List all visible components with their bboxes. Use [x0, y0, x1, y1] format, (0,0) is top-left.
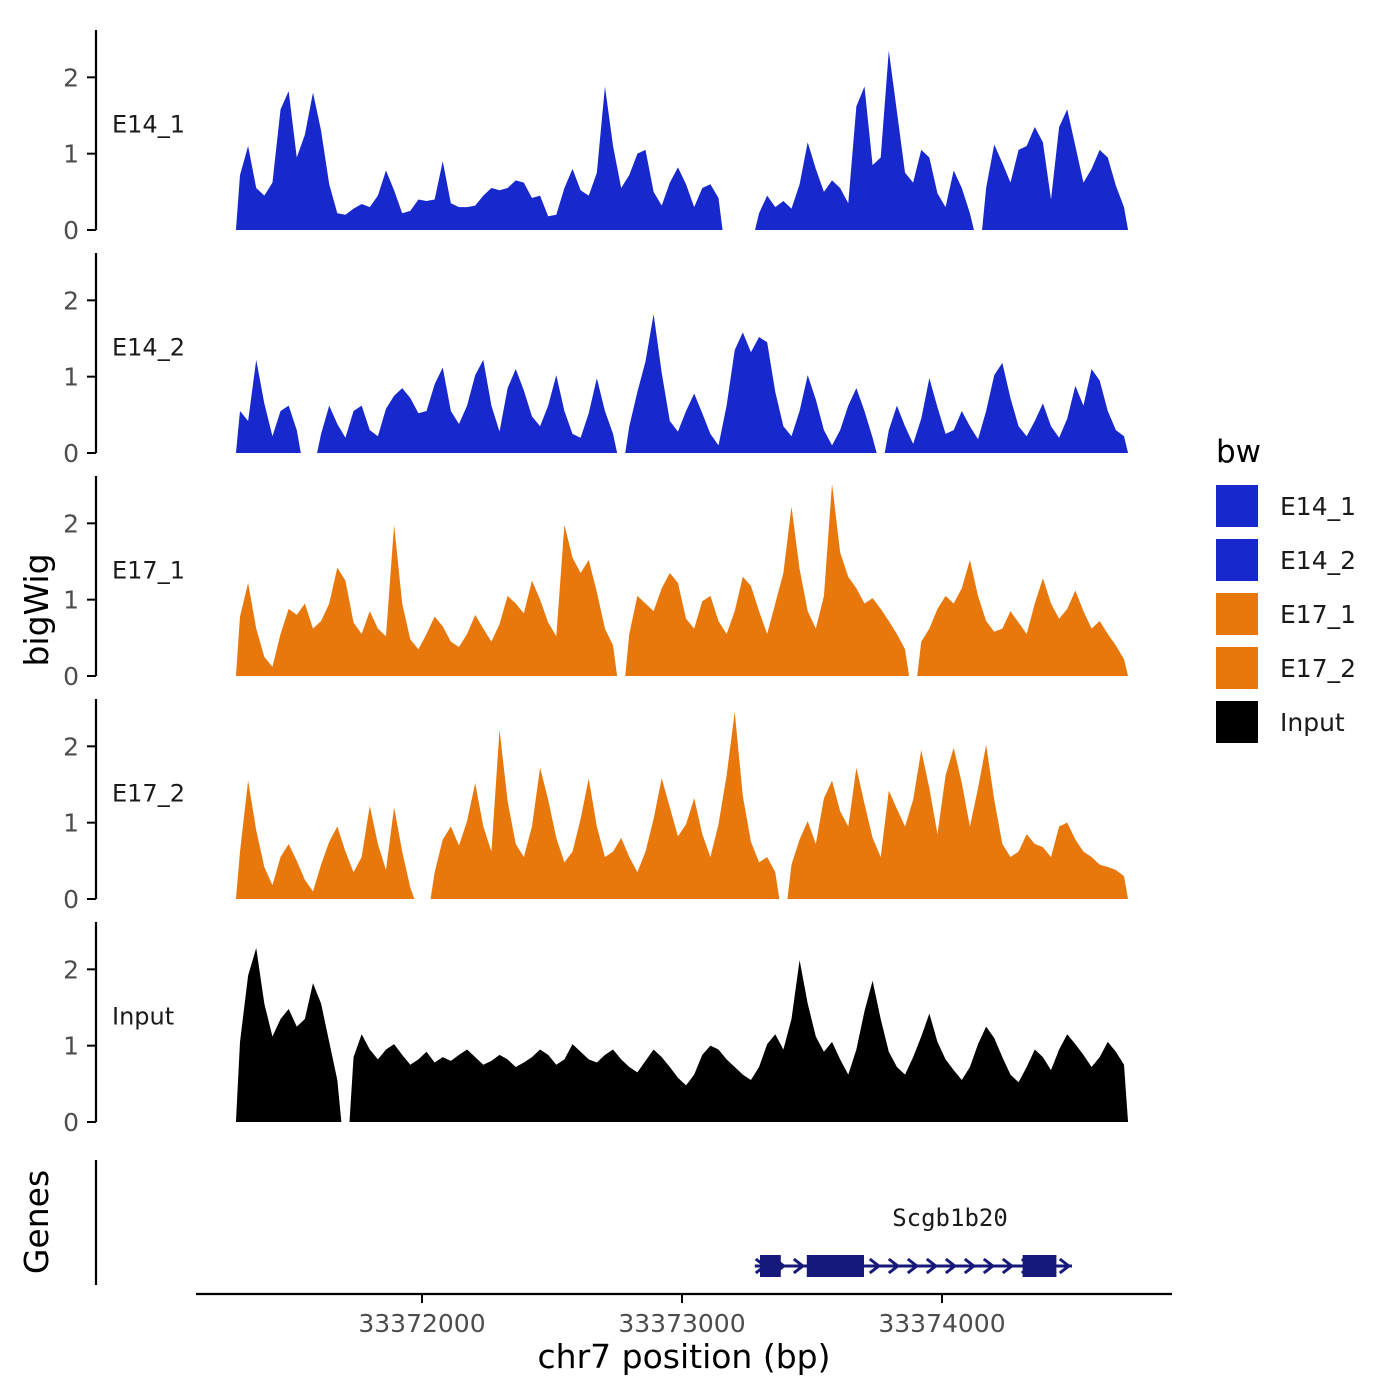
track-label-input: Input — [112, 1002, 174, 1030]
legend-label: Input — [1280, 708, 1345, 737]
y-tick-label: 0 — [63, 662, 79, 691]
legend-swatch — [1216, 539, 1258, 581]
x-tick-label: 33373000 — [618, 1309, 745, 1338]
gene-exon[interactable] — [1023, 1255, 1057, 1277]
track-label-e17_2: E17_2 — [112, 779, 185, 807]
y-tick-label: 1 — [63, 1032, 79, 1061]
y-tick-label: 0 — [63, 1108, 79, 1137]
legend-title: bw — [1216, 434, 1261, 470]
y-tick-label: 0 — [63, 885, 79, 914]
legend-item-e17_1[interactable]: E17_1 — [1216, 593, 1356, 635]
y-tick-label: 2 — [63, 63, 79, 92]
gene-exon[interactable] — [807, 1255, 864, 1277]
legend-item-e17_2[interactable]: E17_2 — [1216, 647, 1356, 689]
y-tick-label: 2 — [63, 286, 79, 315]
legend-swatch — [1216, 593, 1258, 635]
legend-swatch — [1216, 701, 1258, 743]
y-tick-label: 1 — [63, 363, 79, 392]
gene-name-label: Scgb1b20 — [892, 1204, 1008, 1232]
legend-swatch — [1216, 485, 1258, 527]
y-tick-label: 1 — [63, 586, 79, 615]
y-tick-label: 2 — [63, 509, 79, 538]
y-axis-title-bigwig: bigWig — [17, 553, 56, 666]
legend-label: E14_2 — [1280, 546, 1356, 575]
x-tick-label: 33374000 — [878, 1309, 1005, 1338]
legend-label: E17_1 — [1280, 600, 1356, 629]
legend-label: E14_1 — [1280, 492, 1356, 521]
track-label-e17_1: E17_1 — [112, 556, 185, 584]
y-tick-label: 0 — [63, 216, 79, 245]
track-label-e14_1: E14_1 — [112, 110, 185, 138]
legend-item-e14_1[interactable]: E14_1 — [1216, 485, 1356, 527]
legend-item-input[interactable]: Input — [1216, 701, 1345, 743]
genome-browser-figure: bigWig Genes 012E14_1012E14_2012E17_1012… — [0, 0, 1400, 1400]
y-tick-label: 1 — [63, 809, 79, 838]
legend-item-e14_2[interactable]: E14_2 — [1216, 539, 1356, 581]
legend-label: E17_2 — [1280, 654, 1356, 683]
gene-exon[interactable] — [760, 1255, 781, 1277]
y-tick-label: 2 — [63, 732, 79, 761]
x-tick-label: 33372000 — [358, 1309, 485, 1338]
x-axis-title: chr7 position (bp) — [538, 1337, 831, 1376]
figure-root: bigWig Genes 012E14_1012E14_2012E17_1012… — [0, 0, 1400, 1400]
y-tick-label: 1 — [63, 140, 79, 169]
y-tick-label: 0 — [63, 439, 79, 468]
track-label-e14_2: E14_2 — [112, 333, 185, 361]
y-axis-title-genes: Genes — [17, 1170, 56, 1274]
legend-swatch — [1216, 647, 1258, 689]
y-tick-label: 2 — [63, 955, 79, 984]
